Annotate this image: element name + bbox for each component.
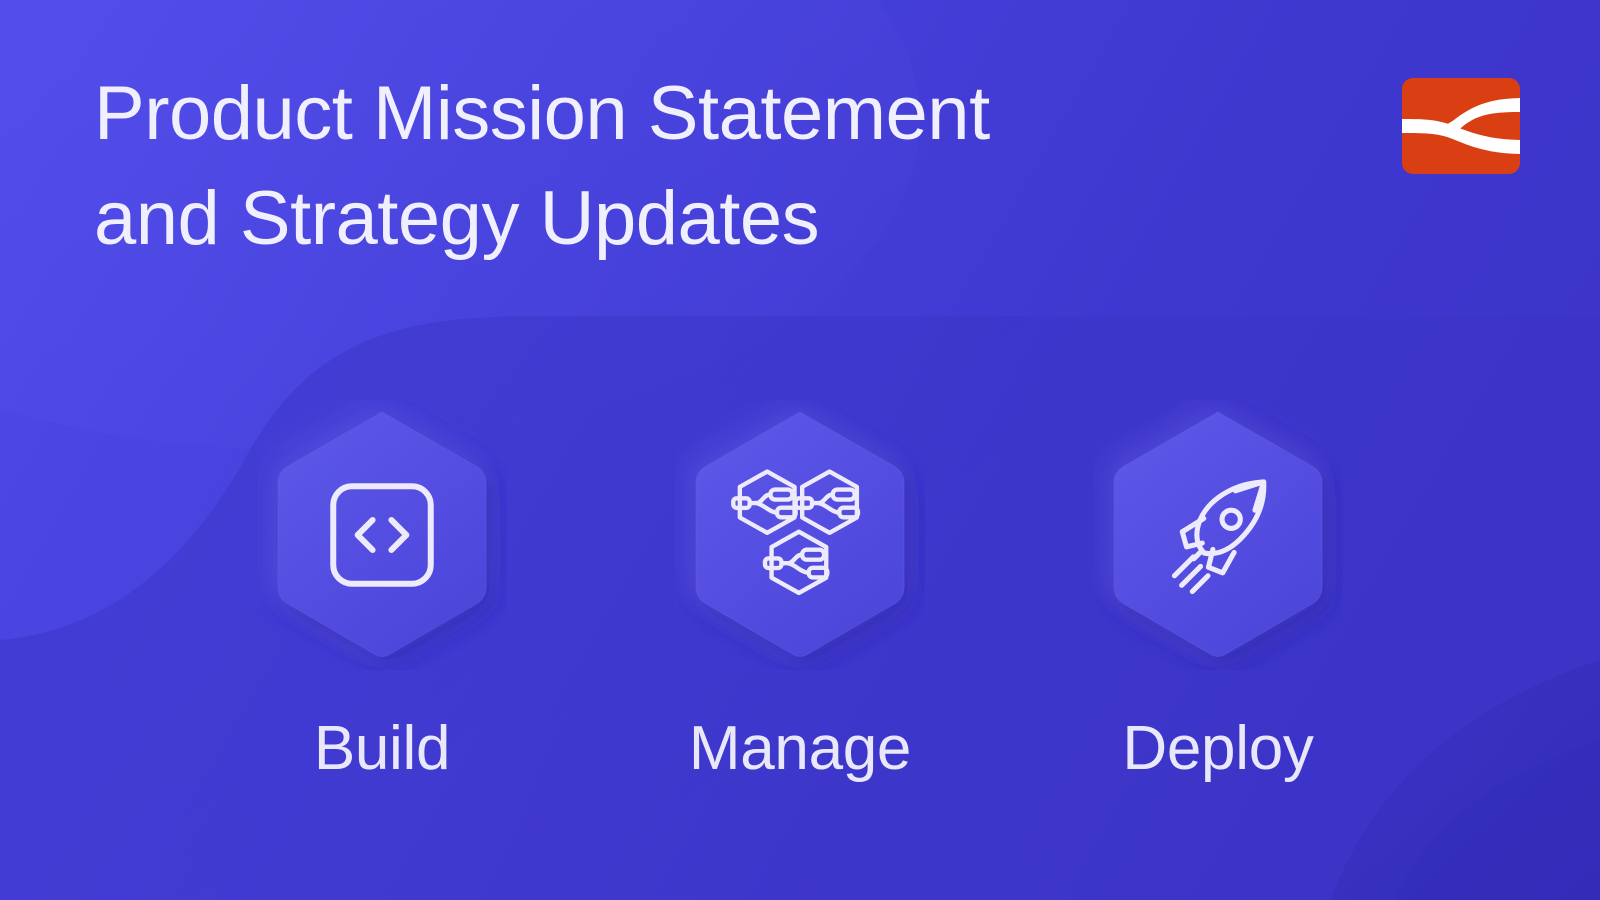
feature-label-build: Build: [314, 718, 450, 780]
merge-fork-logo-icon: [1402, 78, 1520, 174]
feature-label-manage: Manage: [689, 718, 911, 780]
manage-icon-node-top-right: [796, 472, 858, 533]
hexagon-deploy[interactable]: [1093, 400, 1343, 670]
manage-icon-node-top-left: [733, 472, 795, 533]
slide-header: Product Mission Statement and Strategy U…: [0, 0, 1600, 320]
rocket-left-fin: [1182, 518, 1203, 546]
manage-icon-node-bottom: [765, 532, 827, 593]
hexagon-build[interactable]: [257, 400, 507, 670]
rocket-icon: [1150, 467, 1286, 603]
manage-icon: [730, 465, 870, 605]
code-icon-right-chevron: [391, 520, 406, 550]
hexagon-manage[interactable]: [675, 400, 925, 670]
feature-row: Build: [0, 400, 1600, 780]
code-icon-left-chevron: [358, 520, 373, 550]
rocket-speed-line-3: [1192, 576, 1208, 592]
code-icon: [322, 475, 442, 595]
code-icon-frame: [333, 486, 431, 584]
feature-item-manage[interactable]: Manage: [655, 400, 945, 780]
feature-label-deploy: Deploy: [1122, 718, 1313, 780]
slide-canvas: Product Mission Statement and Strategy U…: [0, 0, 1600, 900]
feature-item-build[interactable]: Build: [237, 400, 527, 780]
rocket-window: [1222, 510, 1240, 528]
feature-item-deploy[interactable]: Deploy: [1073, 400, 1363, 780]
rocket-body: [1197, 482, 1264, 554]
page-title: Product Mission Statement and Strategy U…: [94, 62, 990, 272]
